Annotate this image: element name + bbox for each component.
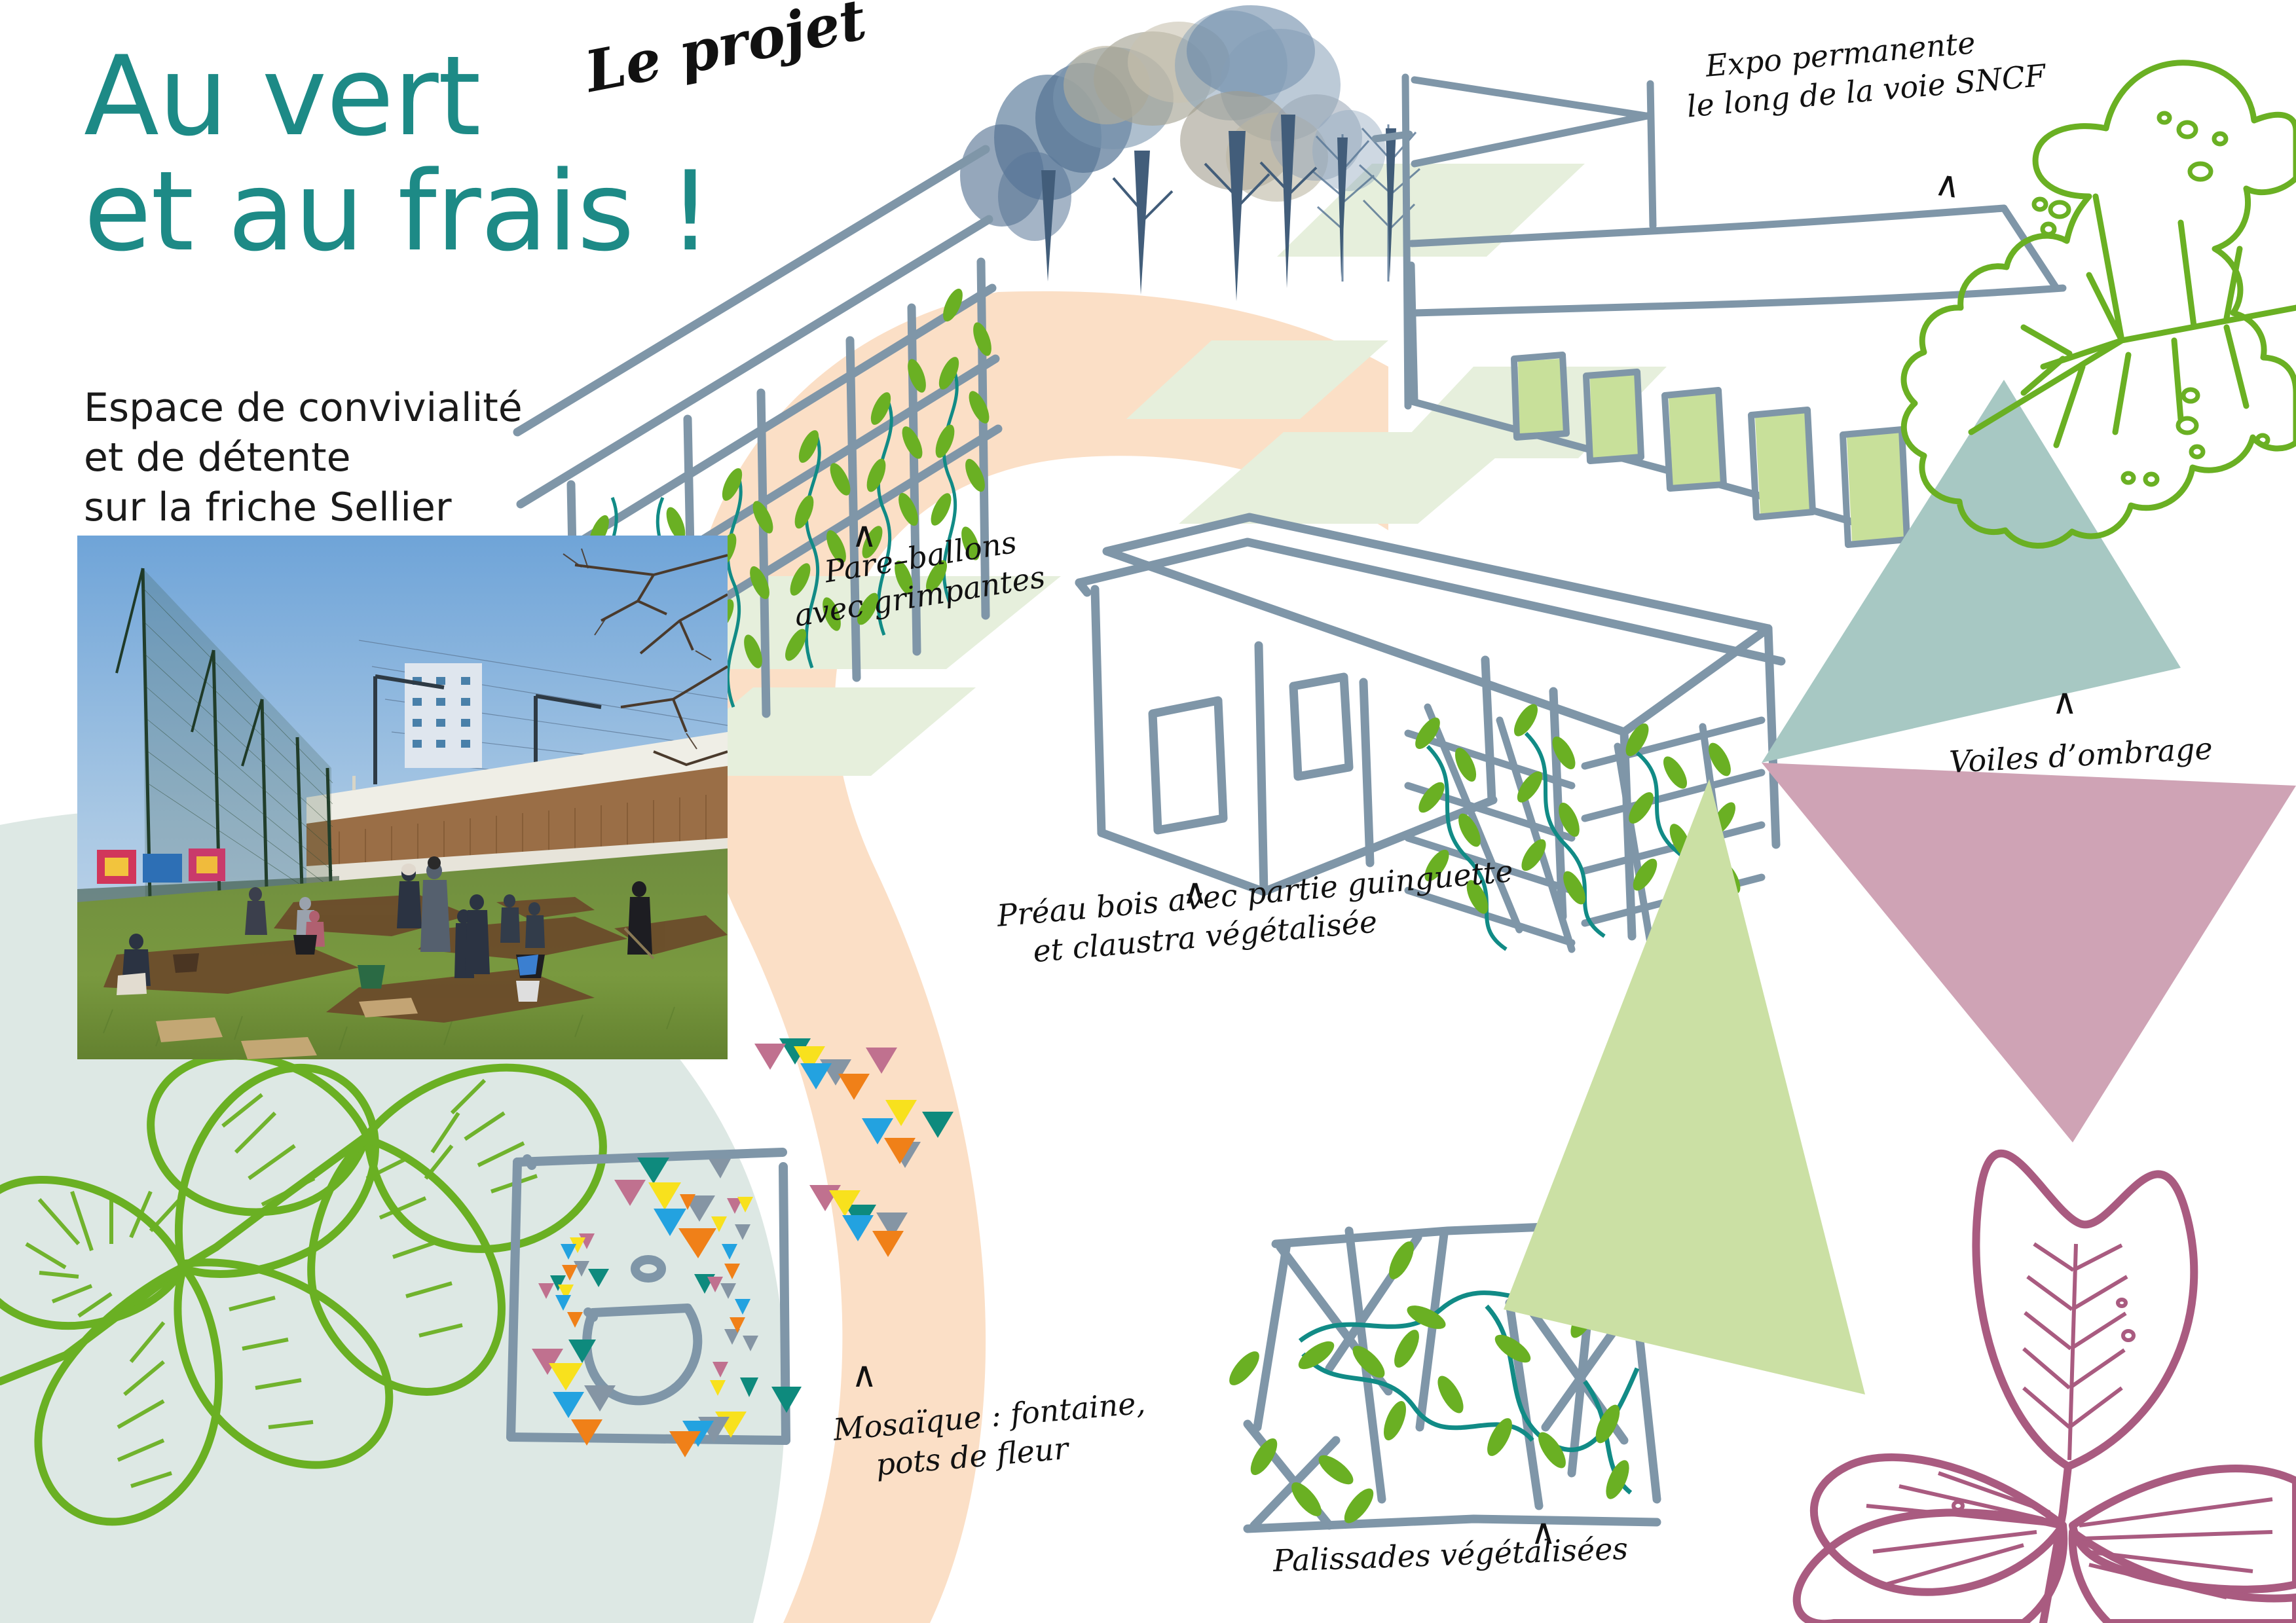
subtitle-line-2: et de détente [84,433,582,483]
subtitle-block: Espace de convivialité et de détente sur… [84,383,582,533]
annotation-voiles-ombrage: Voiles d’ombrage [1948,729,2213,782]
project-kicker: Le projet [580,0,872,105]
caret-icon-voiles: ∧ [2052,684,2078,720]
annotation-voiles-line1: Voiles d’ombrage [1948,729,2213,782]
poster-canvas: Au vert et au frais ! Le projet Espace d… [0,0,2296,1623]
shade-sail-pink [1762,763,2296,1142]
annotation-preau: Préau bois avec partie guinguette et cla… [995,852,1518,974]
caret-icon-mosaique: ∧ [851,1357,878,1393]
page-title-line2: et au frais ! [84,155,712,269]
site-photo-illustration [77,536,728,1059]
annotation-expo: Expo permanente le long de la voie SNCF [1704,18,2047,124]
caret-icon-expo: ∧ [1933,166,1963,204]
annotation-mosaique: Mosaïque : fontaine, pots de fleur [832,1383,1150,1487]
page-title-line1: Au vert [84,39,481,154]
annotation-palissades-line1: Palissades végétalisées [1272,1529,1629,1580]
subtitle-line-1: Espace de convivialité [84,383,582,433]
shade-sail-green [1504,779,1865,1395]
subtitle-line-3: sur la friche Sellier [84,483,582,532]
palisade-leaves [1224,1238,1633,1528]
shade-sail-teal [1762,380,2181,763]
annotation-palissades: Palissades végétalisées [1272,1529,1629,1580]
site-photo [77,536,728,1059]
exhibition-panels [1514,355,1907,545]
pale-green-plates [645,164,1667,776]
palisade-vines [1300,1293,1637,1493]
mosaic-triangles [532,1038,954,1457]
